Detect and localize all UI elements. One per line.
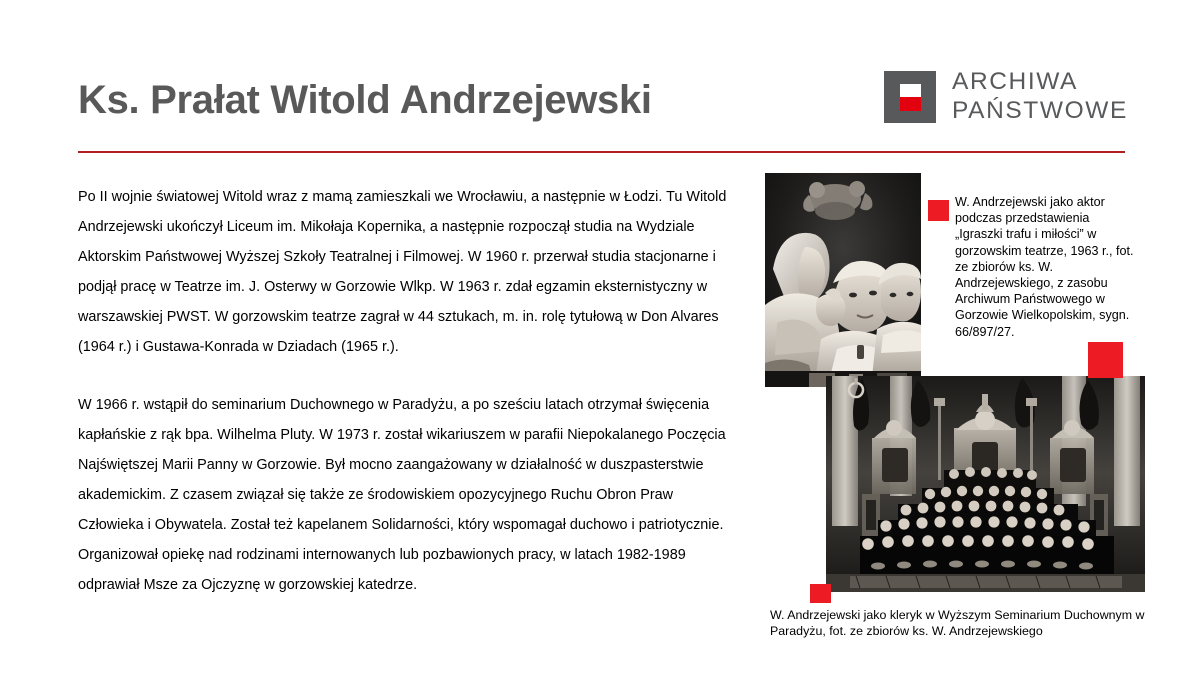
polish-flag-icon	[900, 84, 921, 111]
theatre-performance-photo	[765, 173, 921, 387]
logo-mark-icon	[884, 71, 936, 123]
red-accent-square-bottom	[810, 584, 831, 603]
seminary-group-photo	[826, 376, 1145, 592]
archiwa-panstwowe-logo: ARCHIWA PAŃSTWOWE	[884, 68, 1128, 125]
red-accent-square-middle	[1088, 342, 1123, 378]
flag-red-stripe	[900, 97, 921, 111]
body-paragraph-2: W 1966 r. wstąpił do seminarium Duchowne…	[78, 390, 738, 600]
body-paragraph-1: Po II wojnie światowej Witold wraz z mam…	[78, 182, 738, 362]
logo-line-2: PAŃSTWOWE	[952, 97, 1128, 126]
logo-wordmark: ARCHIWA PAŃSTWOWE	[952, 68, 1128, 125]
page-title: Ks. Prałat Witold Andrzejewski	[78, 78, 652, 123]
seminary-photo-graphic	[826, 376, 1145, 592]
logo-line-1: ARCHIWA	[952, 68, 1128, 97]
title-divider	[78, 151, 1125, 153]
flag-white-stripe	[900, 84, 921, 98]
body-text-block: Po II wojnie światowej Witold wraz z mam…	[78, 182, 738, 600]
theatre-photo-graphic	[765, 173, 921, 387]
seminary-photo-caption: W. Andrzejewski jako kleryk w Wyższym Se…	[770, 607, 1190, 639]
theatre-photo-caption: W. Andrzejewski jako aktor podczas przed…	[955, 194, 1135, 340]
red-accent-square-caption	[928, 200, 949, 221]
